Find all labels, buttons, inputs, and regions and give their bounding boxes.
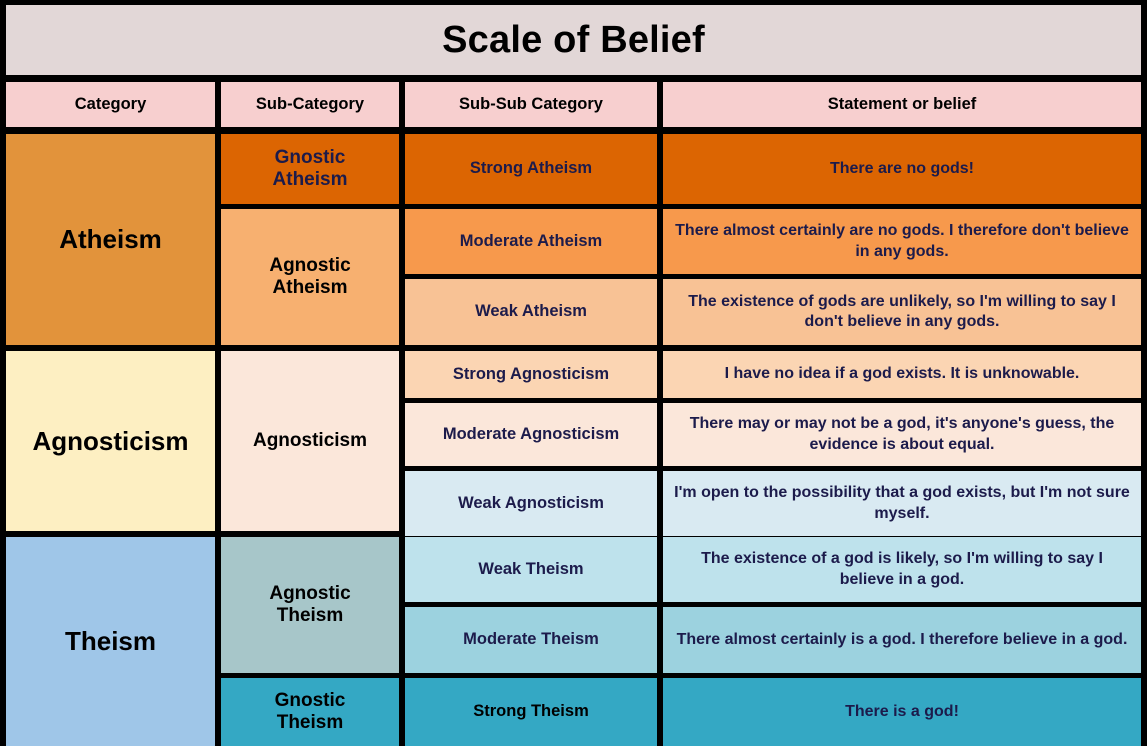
subcategory-cell-agnostic-theism: Agnostic Theism: [221, 537, 399, 673]
subcategory-cell-agnosticism: Agnosticism: [221, 351, 399, 531]
band-atheism-content: Gnostic Atheism Strong Atheism There are…: [221, 134, 1141, 345]
scale-of-belief-infographic: Scale of Belief Category Sub-Category Su…: [0, 0, 1147, 744]
belief-table-body: Atheism Gnostic Atheism Strong Atheism T…: [6, 134, 1141, 746]
table-row: Strong Atheism There are no gods!: [405, 134, 1141, 204]
table-row: Weak Atheism The existence of gods are u…: [405, 279, 1141, 345]
subgroup-agnostic-atheism: Agnostic Atheism Moderate Atheism There …: [221, 209, 1141, 345]
rows-gnostic-theism: Strong Theism There is a god!: [405, 678, 1141, 746]
subcategory-label-line2: Theism: [277, 605, 344, 626]
divider-header: [6, 127, 1141, 134]
statement-cell-weak-agnosticism: I'm open to the possibility that a god e…: [663, 471, 1141, 536]
table-row: Moderate Theism There almost certainly i…: [405, 607, 1141, 673]
column-header-subcategory: Sub-Category: [221, 82, 399, 127]
band-agnosticism-content: Agnosticism Strong Agnosticism I have no…: [221, 351, 1141, 531]
statement-cell-moderate-theism: There almost certainly is a god. I there…: [663, 607, 1141, 673]
statement-cell-strong-agnosticism: I have no idea if a god exists. It is un…: [663, 351, 1141, 398]
subcategory-label-line1: Gnostic: [275, 147, 346, 168]
subsubcategory-cell-moderate-theism: Moderate Theism: [405, 607, 657, 673]
subsubcategory-cell-moderate-agnosticism: Moderate Agnosticism: [405, 403, 657, 466]
band-atheism: Atheism Gnostic Atheism Strong Atheism T…: [6, 134, 1141, 345]
rows-agnosticism: Strong Agnosticism I have no idea if a g…: [405, 351, 1141, 531]
table-row: Strong Agnosticism I have no idea if a g…: [405, 351, 1141, 398]
band-agnosticism: Agnosticism Agnosticism Strong Agnostici…: [6, 351, 1141, 531]
statement-cell-strong-atheism: There are no gods!: [663, 134, 1141, 204]
subgroup-agnosticism: Agnosticism Strong Agnosticism I have no…: [221, 351, 1141, 531]
band-theism-content: Agnostic Theism Weak Theism The existenc…: [221, 537, 1141, 746]
subsubcategory-cell-weak-atheism: Weak Atheism: [405, 279, 657, 345]
subsubcategory-cell-weak-agnosticism: Weak Agnosticism: [405, 471, 657, 536]
chart-title-bar: Scale of Belief: [6, 5, 1141, 75]
subcategory-cell-gnostic-atheism: Gnostic Atheism: [221, 134, 399, 204]
table-row: Moderate Atheism There almost certainly …: [405, 209, 1141, 274]
rows-agnostic-theism: Weak Theism The existence of a god is li…: [405, 537, 1141, 673]
category-cell-theism: Theism: [6, 537, 215, 746]
subgroup-agnostic-theism: Agnostic Theism Weak Theism The existenc…: [221, 537, 1141, 673]
subgroup-gnostic-atheism: Gnostic Atheism Strong Atheism There are…: [221, 134, 1141, 204]
column-header-statement: Statement or belief: [663, 82, 1141, 127]
subcategory-label-line2: Atheism: [273, 169, 348, 190]
subsubcategory-cell-strong-theism: Strong Theism: [405, 678, 657, 746]
subcategory-label-line1: Gnostic: [275, 690, 346, 711]
subcategory-label-line1: Agnostic: [269, 583, 350, 604]
column-header-category: Category: [6, 82, 215, 127]
column-header-row: Category Sub-Category Sub-Sub Category S…: [6, 82, 1141, 127]
band-theism: Theism Agnostic Theism Weak Theism The e…: [6, 537, 1141, 746]
divider-title: [6, 75, 1141, 82]
subcategory-label-line1: Agnostic: [269, 255, 350, 276]
subsubcategory-cell-strong-agnosticism: Strong Agnosticism: [405, 351, 657, 398]
table-row: Strong Theism There is a god!: [405, 678, 1141, 746]
rows-gnostic-atheism: Strong Atheism There are no gods!: [405, 134, 1141, 204]
subsubcategory-cell-strong-atheism: Strong Atheism: [405, 134, 657, 204]
category-cell-agnosticism: Agnosticism: [6, 351, 215, 531]
category-cell-atheism: Atheism: [6, 134, 215, 345]
statement-cell-moderate-agnosticism: There may or may not be a god, it's anyo…: [663, 403, 1141, 466]
page-title: Scale of Belief: [442, 19, 705, 62]
subcategory-label-line2: Theism: [277, 712, 344, 733]
column-header-subsubcategory: Sub-Sub Category: [405, 82, 657, 127]
statement-cell-weak-atheism: The existence of gods are unlikely, so I…: [663, 279, 1141, 345]
subcategory-cell-agnostic-atheism: Agnostic Atheism: [221, 209, 399, 345]
statement-cell-weak-theism: The existence of a god is likely, so I'm…: [663, 537, 1141, 602]
subsubcategory-cell-moderate-atheism: Moderate Atheism: [405, 209, 657, 274]
table-row: Moderate Agnosticism There may or may no…: [405, 403, 1141, 466]
table-row: Weak Theism The existence of a god is li…: [405, 537, 1141, 602]
subgroup-gnostic-theism: Gnostic Theism Strong Theism There is a …: [221, 678, 1141, 746]
table-row: Weak Agnosticism I'm open to the possibi…: [405, 471, 1141, 536]
statement-cell-strong-theism: There is a god!: [663, 678, 1141, 746]
subcategory-cell-gnostic-theism: Gnostic Theism: [221, 678, 399, 746]
statement-cell-moderate-atheism: There almost certainly are no gods. I th…: [663, 209, 1141, 274]
subsubcategory-cell-weak-theism: Weak Theism: [405, 537, 657, 602]
rows-agnostic-atheism: Moderate Atheism There almost certainly …: [405, 209, 1141, 345]
subcategory-label-line2: Atheism: [273, 277, 348, 298]
